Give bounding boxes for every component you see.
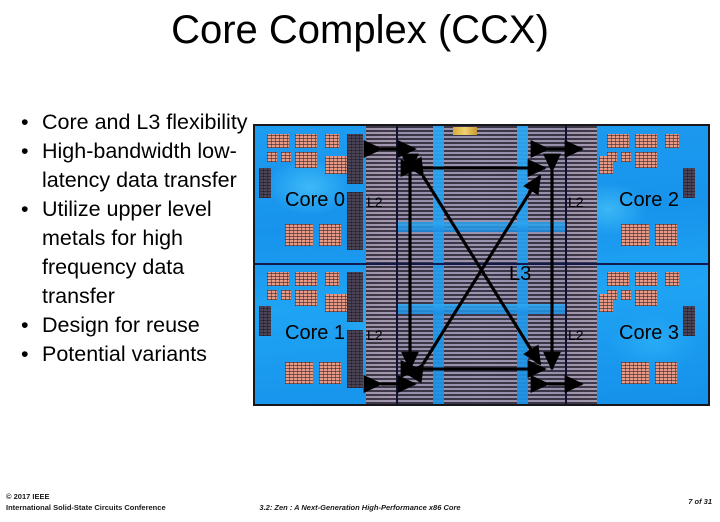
bullet-marker: • bbox=[21, 108, 29, 137]
footer-copyright-line1: © 2017 IEEE bbox=[6, 492, 166, 503]
label-l2-core3: L2 bbox=[568, 327, 584, 343]
list-item-text: Core and L3 flexibility bbox=[42, 110, 248, 134]
footer-page-indicator: 7 of 31 bbox=[688, 497, 712, 506]
list-item: • Potential variants bbox=[14, 340, 254, 369]
page-title: Core Complex (CCX) bbox=[0, 6, 720, 54]
ccx-die-photo: Core 0 L2 Core 2 L2 Core 1 L2 Core 3 L2 … bbox=[253, 124, 710, 406]
die-silicon-background: Core 0 L2 Core 2 L2 Core 1 L2 Core 3 L2 … bbox=[255, 126, 708, 404]
label-core2: Core 2 bbox=[619, 189, 679, 212]
list-item: • High-bandwidth low-latency data transf… bbox=[14, 137, 254, 195]
label-l2-core0: L2 bbox=[367, 194, 383, 210]
label-core3: Core 3 bbox=[619, 322, 679, 345]
list-item: • Design for reuse bbox=[14, 311, 254, 340]
bullet-marker: • bbox=[21, 340, 29, 369]
list-item-text: Utilize upper level metals for high freq… bbox=[42, 197, 212, 308]
list-item-text: High-bandwidth low-latency data transfer bbox=[42, 139, 237, 192]
list-item: • Core and L3 flexibility bbox=[14, 108, 254, 137]
bullet-marker: • bbox=[21, 311, 29, 340]
label-core0: Core 0 bbox=[285, 189, 345, 212]
data-path-arrows bbox=[255, 126, 708, 404]
footer-paper-title: 3.2: Zen : A Next-Generation High-Perfor… bbox=[0, 503, 720, 512]
list-item: • Utilize upper level metals for high fr… bbox=[14, 195, 254, 311]
bullet-marker: • bbox=[21, 137, 29, 166]
bullet-list: • Core and L3 flexibility • High-bandwid… bbox=[14, 108, 254, 369]
list-item-text: Potential variants bbox=[42, 342, 207, 366]
label-core1: Core 1 bbox=[285, 322, 345, 345]
label-l2-core2: L2 bbox=[568, 194, 584, 210]
bullet-marker: • bbox=[21, 195, 29, 224]
list-item-text: Design for reuse bbox=[42, 313, 200, 337]
label-l3: L3 bbox=[509, 263, 531, 286]
label-l2-core1: L2 bbox=[367, 327, 383, 343]
